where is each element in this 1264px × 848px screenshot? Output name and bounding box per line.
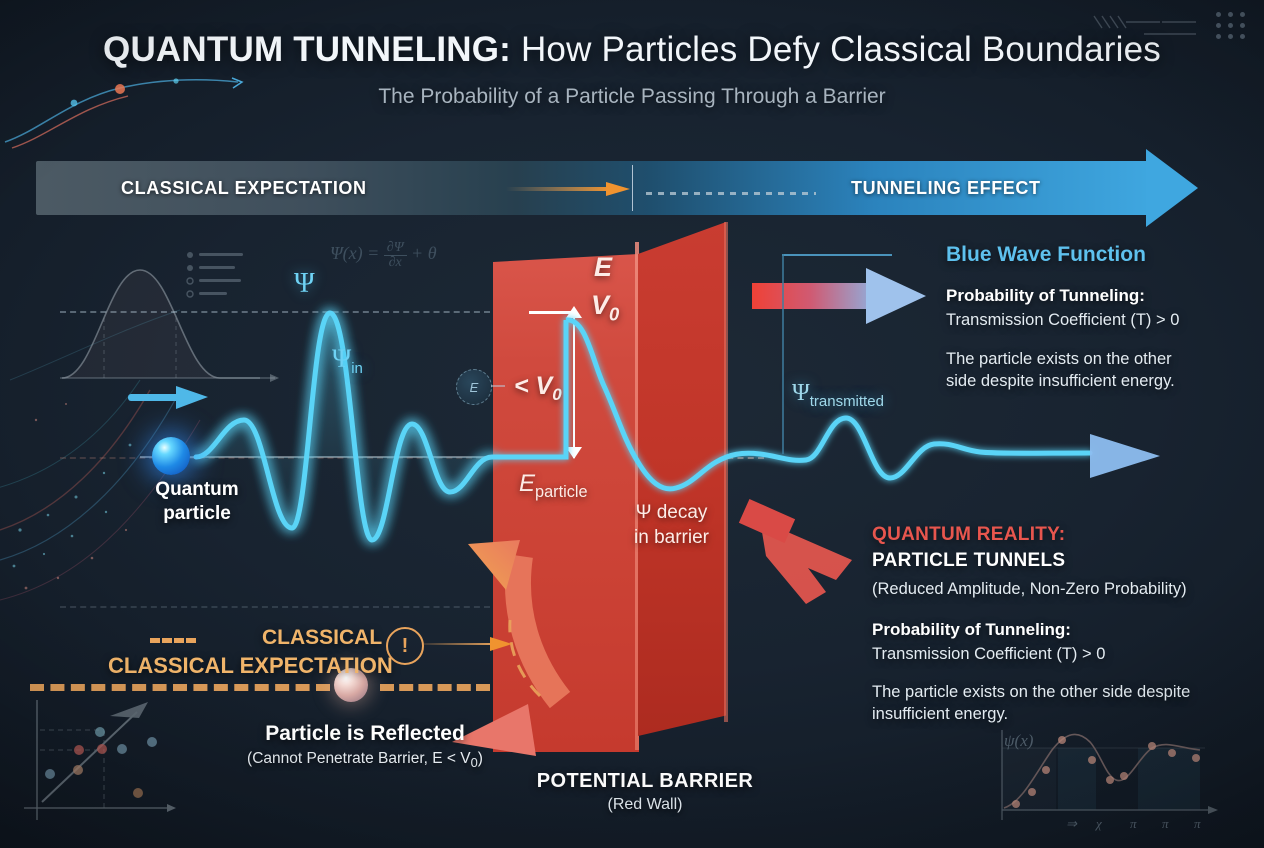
barrier-caption-title: POTENTIAL BARRIER (470, 770, 820, 793)
barrier-dim-arrow-down-icon (566, 447, 582, 459)
barrier-right-edge (724, 222, 728, 722)
quantum-reality-title: PARTICLE TUNNELS (872, 550, 1065, 572)
decor-bottom-right-chart: ⇒ χ π π π ψ(x) (1000, 728, 1260, 840)
barrier-dim-arrow-up-icon (566, 306, 582, 318)
quantum-reality-label: QUANTUM REALITY: (872, 524, 1065, 546)
decor-equation: Ψ(x) = ∂Ψ ∂x + θ (330, 240, 437, 270)
psi-in-label: Ψin (332, 344, 363, 377)
psi-label: Ψ (294, 268, 315, 300)
blue-wave-function-title: Blue Wave Function (946, 243, 1146, 267)
classical-trajectory-dashes-left (30, 684, 330, 691)
dash-line-energy-left (60, 457, 492, 459)
decor-left-particle-streams (0, 60, 300, 620)
barrier-dim-line (573, 313, 575, 458)
equation-denominator: ∂x (389, 255, 402, 270)
decor-tick-2: π (1130, 816, 1137, 831)
classical-trajectory-dashes-right (380, 684, 490, 691)
banner-divider (632, 165, 633, 211)
banner-dotted-track (646, 192, 816, 195)
banner-orange-arrow-icon (506, 181, 631, 197)
quantum-reality-sub: (Reduced Amplitude, Non-Zero Probability… (872, 578, 1187, 600)
decor-tick-4: π (1194, 816, 1201, 831)
classical-label-main: CLASSICAL EXPECTATION (108, 653, 393, 679)
callout-leader-horizontal (782, 254, 892, 256)
decor-corner-lines (1092, 14, 1202, 40)
decor-tick-0: ⇒ (1066, 816, 1078, 831)
probability-heading-2: Probability of Tunneling: (872, 620, 1071, 640)
callout-leader-vertical (782, 254, 784, 454)
equation-lhs: Ψ(x) = (330, 243, 379, 263)
probability-body-1: The particle exists on the other side de… (946, 348, 1246, 392)
classical-label-dash (150, 638, 196, 643)
decor-gaussian-curve (60, 260, 310, 390)
decor-psi-of-x: ψ(x) (1004, 731, 1034, 750)
decor-tick-1: χ (1094, 816, 1102, 831)
incident-direction-arrow (128, 386, 208, 409)
barrier-label-psi-decay: Ψ decay in barrier (634, 500, 709, 550)
barrier-label-V0: V0 (591, 290, 619, 325)
reflected-subtitle: (Cannot Penetrate Barrier, E < V0) (175, 750, 555, 770)
warning-connector-line (424, 643, 496, 645)
reflected-title: Particle is Reflected (175, 722, 555, 746)
barrier-caption-sub: (Red Wall) (470, 796, 820, 814)
probability-sub-2: Transmission Coefficient (T) > 0 (872, 643, 1105, 665)
banner-label-tunneling: TUNNELING EFFECT (851, 161, 1041, 215)
quantum-particle-ball (152, 437, 190, 475)
energy-badge-icon: E (456, 369, 492, 405)
quantum-particle-label: Quantum particle (122, 478, 272, 526)
probability-heading-1: Probability of Tunneling: (946, 286, 1145, 306)
barrier-label-E-particle: Eparticle (519, 470, 588, 502)
infographic-canvas: ⇒ χ π π π ψ(x) QUANTUM TUNNELING: How Pa… (0, 0, 1264, 848)
probability-body-2: The particle exists on the other side de… (872, 681, 1242, 725)
page-title-bold: QUANTUM TUNNELING: (103, 30, 511, 69)
equation-fraction: ∂Ψ ∂x (384, 240, 407, 270)
probability-sub-1: Transmission Coefficient (T) > 0 (946, 309, 1179, 331)
barrier-label-less-than-V0: < V0 (514, 372, 562, 405)
barrier-side-face (638, 222, 726, 736)
banner-label-classical: CLASSICAL EXPECTATION (121, 161, 367, 215)
barrier-front-face (493, 254, 639, 752)
decor-bottom-left-scatter (12, 690, 202, 830)
warning-icon: ! (386, 627, 424, 665)
energy-badge-connector (491, 385, 505, 387)
page-title: QUANTUM TUNNELING: How Particles Defy Cl… (0, 30, 1264, 70)
decor-tick-3: π (1162, 816, 1169, 831)
classical-label-top: CLASSICAL (262, 626, 382, 650)
psi-transmitted-label: Ψtransmitted (792, 380, 884, 410)
page-title-rest: How Particles Defy Classical Boundaries (511, 30, 1161, 69)
decor-top-left-curve (0, 70, 260, 150)
equation-numerator: ∂Ψ (384, 240, 407, 256)
equation-tail: + θ (411, 243, 437, 263)
banner-arrowhead-icon (1146, 149, 1198, 227)
dot-grid-icon (1216, 12, 1246, 39)
page-subtitle: The Probability of a Particle Passing Th… (0, 85, 1264, 109)
decor-legend-list (186, 250, 256, 305)
phase-banner: CLASSICAL EXPECTATION TUNNELING EFFECT (36, 161, 1196, 215)
dash-line-lower-ref (60, 606, 490, 608)
dash-line-psi-peak (60, 311, 490, 313)
barrier-label-E: E (594, 252, 612, 283)
